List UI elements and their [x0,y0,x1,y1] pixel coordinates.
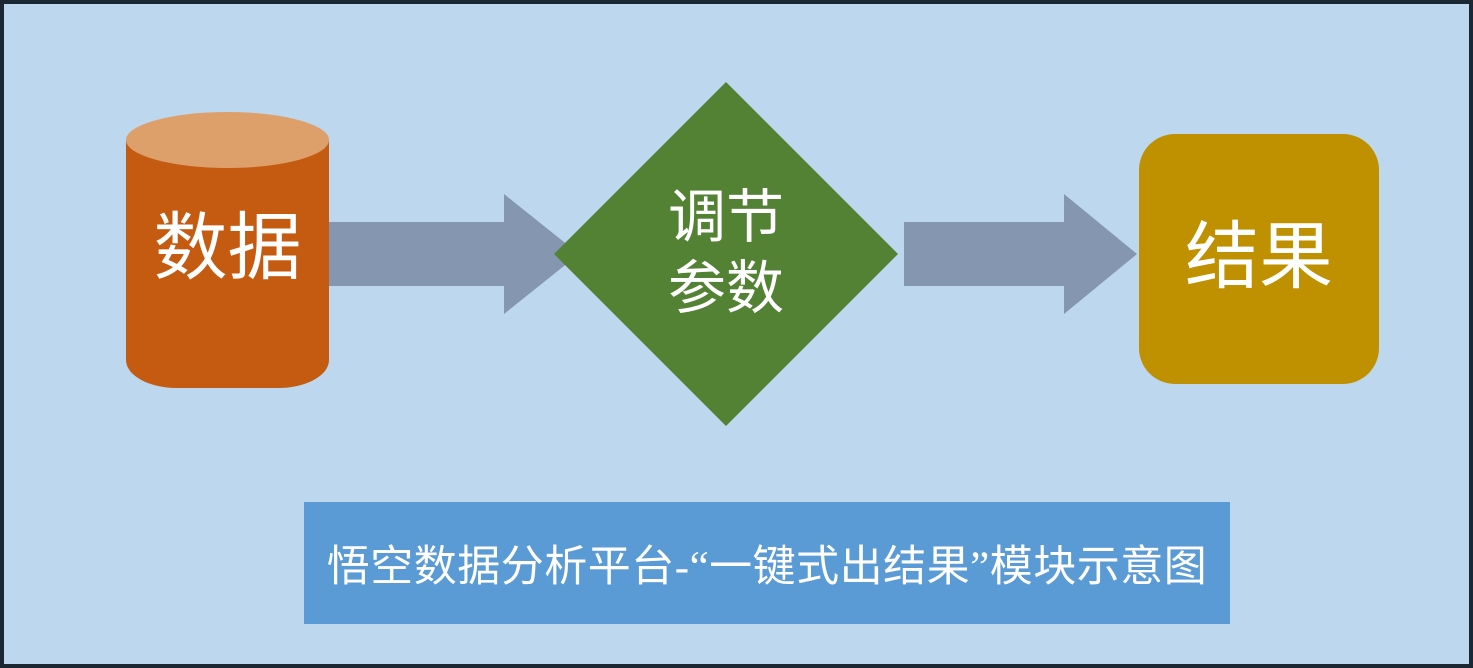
node-data-source[interactable]: 数据 [126,112,329,388]
arrow-shaft [329,222,504,286]
arrow-head [1064,194,1137,314]
node-adjust-parameters[interactable]: 调节 参数 [554,82,898,426]
arrow-shaft [904,222,1064,286]
diagram-canvas: 数据 调节 参数 结果 悟空数据分析平台-“一键式出结果”模块示意图 [0,0,1473,668]
caption-banner: 悟空数据分析平台-“一键式出结果”模块示意图 [304,502,1230,624]
node-data-source-label: 数据 [126,112,329,388]
node-result-label: 结果 [1185,219,1333,299]
node-result[interactable]: 结果 [1139,134,1379,384]
caption-text: 悟空数据分析平台-“一键式出结果”模块示意图 [327,532,1208,594]
node-adjust-parameters-label-line2: 参数 [668,254,784,325]
node-adjust-parameters-label-line1: 调节 [668,183,784,254]
node-adjust-parameters-label: 调节 参数 [554,82,898,426]
arrow-right-icon-adjust-to-result [904,194,1137,314]
arrow-right-icon-data-to-adjust [329,194,579,314]
